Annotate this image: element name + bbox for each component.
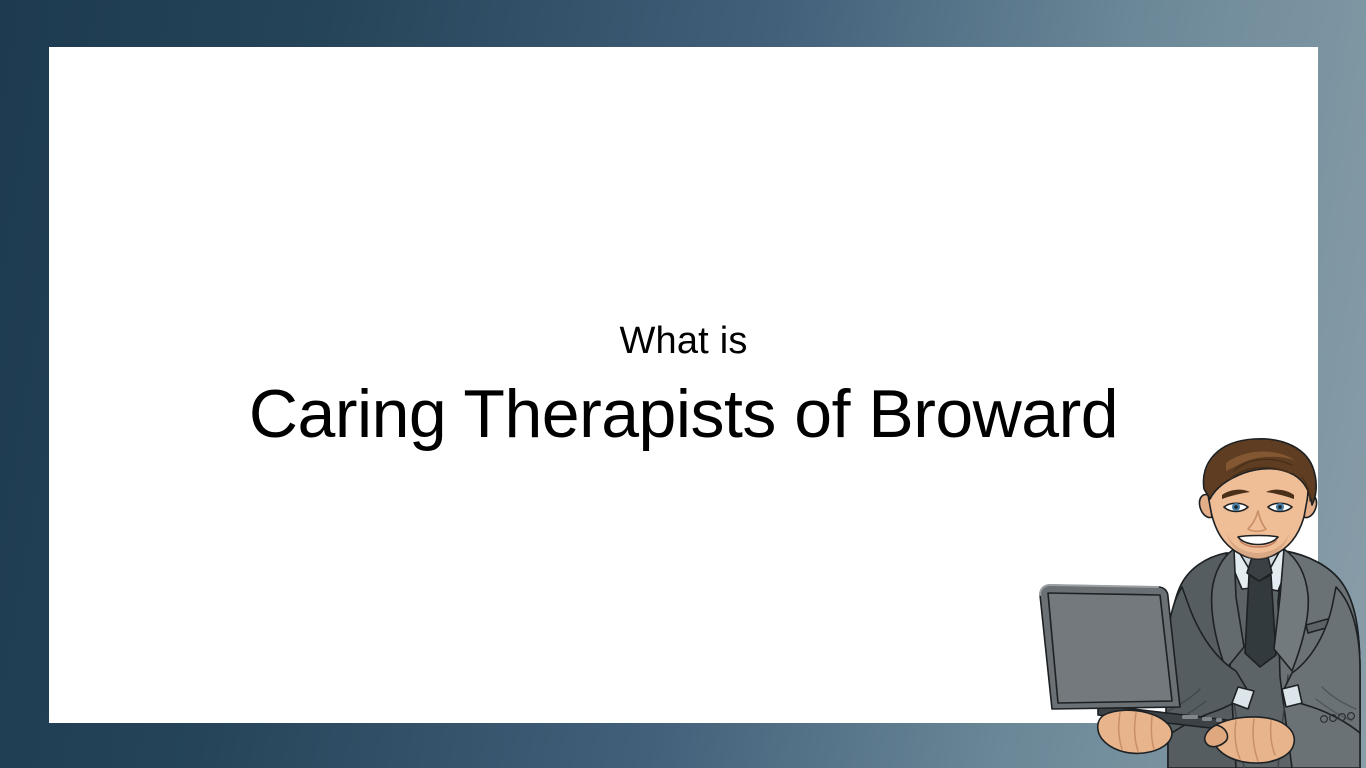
eye-left bbox=[1224, 503, 1248, 512]
businessman-with-laptop-illustration bbox=[1030, 437, 1366, 768]
slide-canvas: What is Caring Therapists of Broward bbox=[0, 0, 1366, 768]
eye-right bbox=[1268, 503, 1292, 512]
presenter-svg bbox=[1030, 437, 1366, 768]
eyebrow-text: What is bbox=[49, 322, 1318, 360]
shirt-cuff-right bbox=[1282, 685, 1302, 707]
laptop-lid-inner bbox=[1048, 593, 1172, 703]
tie-body bbox=[1245, 575, 1276, 667]
